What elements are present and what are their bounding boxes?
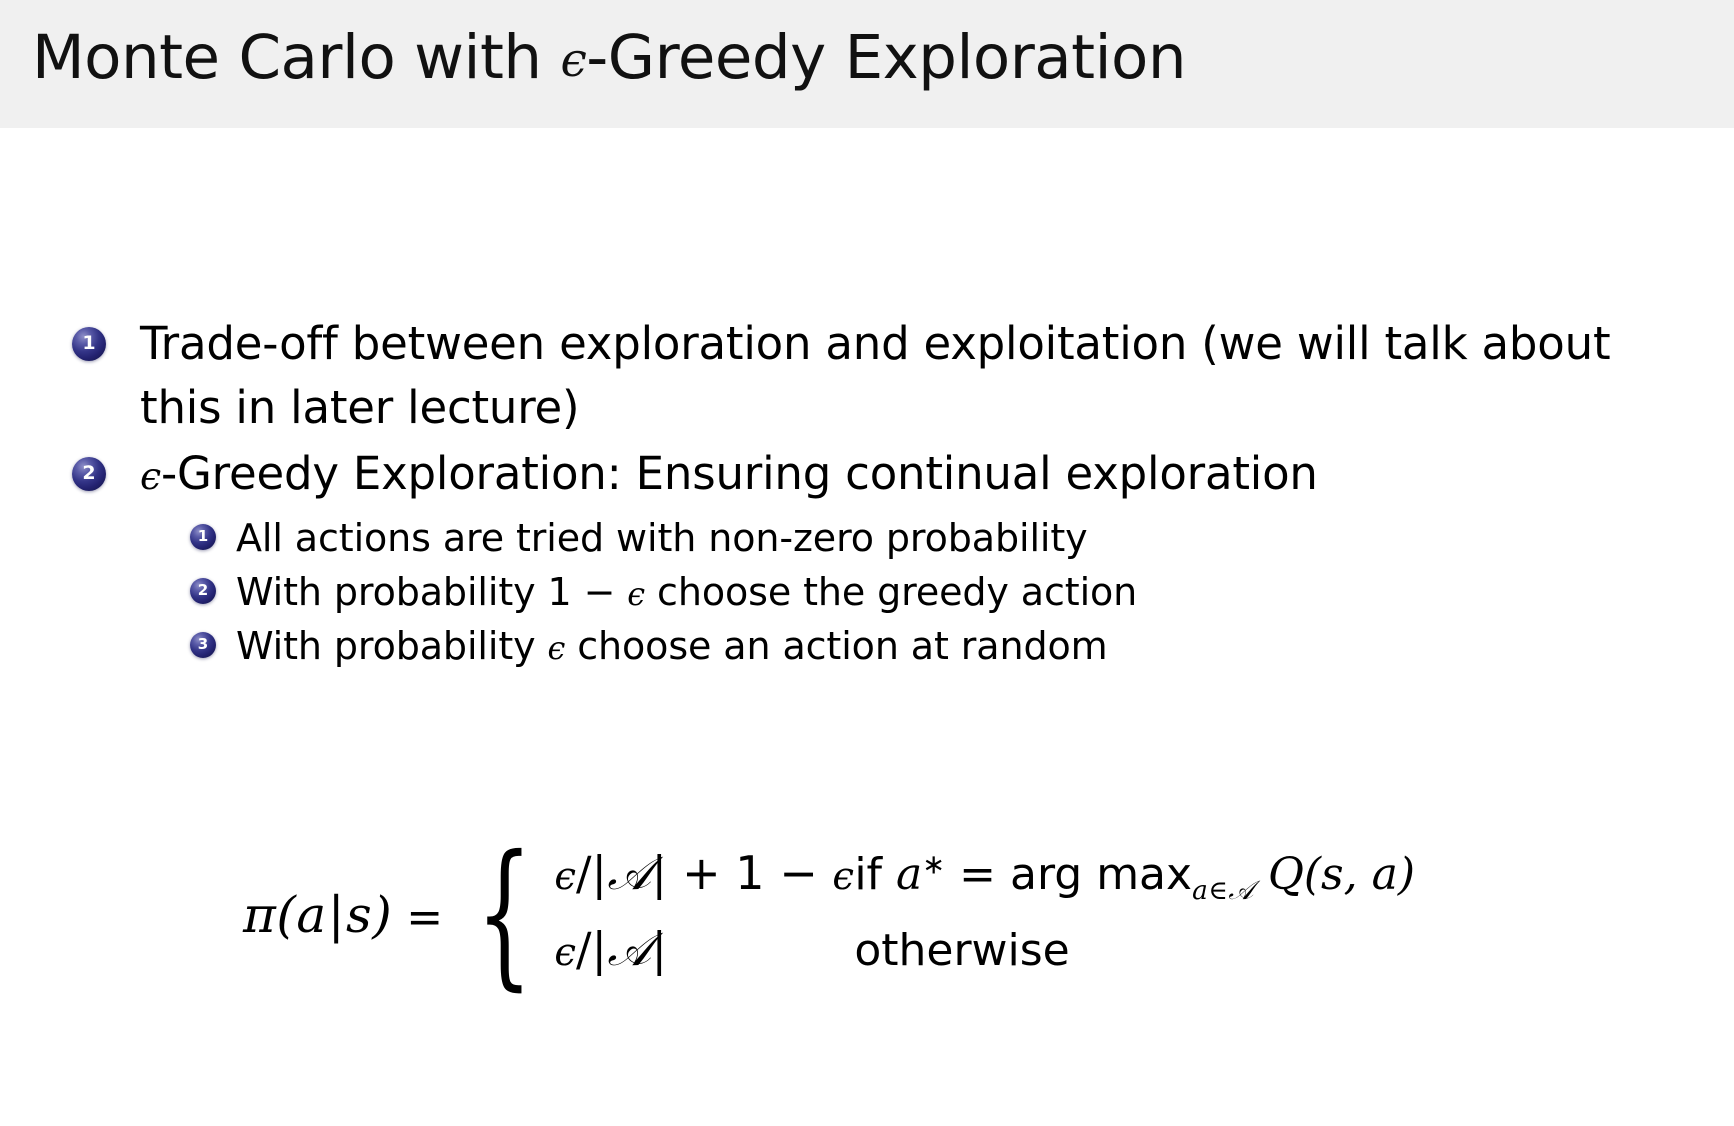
sub-list-item-label: All actions are tried with non-zero prob… (236, 516, 1088, 560)
epsilon-symbol: ϵ (554, 854, 576, 899)
title-epsilon-symbol: ϵ (560, 33, 586, 88)
q-function-args: (s, a) (1304, 849, 1415, 900)
sub-list-item-suffix: choose the greedy action (645, 570, 1137, 614)
sub-bullet-sphere-2: 2 (190, 578, 216, 604)
paren-close: ) (372, 886, 392, 944)
star-superscript: ∗ (922, 849, 945, 880)
curly-brace-icon: { (476, 858, 532, 972)
if-keyword: if (854, 849, 896, 900)
list-item-line-2: this in later lecture) (140, 381, 579, 434)
argmax-subscript: a∈𝒜 (1192, 875, 1254, 906)
formula-cases: ϵ/|𝒜| + 1 − ϵ if a∗ = arg maxa∈𝒜 Q(s, a)… (554, 846, 1415, 984)
epsilon-symbol: ϵ (627, 575, 645, 613)
epsilon-symbol: ϵ (554, 930, 576, 975)
sub-bullet-sphere-3: 3 (190, 632, 216, 658)
list-item-label: -Greedy Exploration: Ensuring continual … (161, 447, 1318, 500)
page-title: Monte Carlo with ϵ-Greedy Exploration (32, 20, 1186, 96)
list-item: 1 Trade-off between exploration and expl… (72, 312, 1702, 440)
sub-list-item-prefix: With probability (236, 570, 548, 614)
pi-symbol: π (243, 886, 276, 944)
sub-bullet-sphere-1: 1 (190, 524, 216, 550)
sub-list-item-prefix: With probability (236, 624, 548, 668)
sub-list-item: 1 All actions are tried with non-zero pr… (190, 512, 1690, 565)
variable-a-star: a (896, 849, 922, 900)
argmax-operator: arg max (1010, 849, 1192, 900)
bullet-marker-box: 1 (72, 312, 140, 361)
cardinality-A: |𝒜| (591, 846, 667, 900)
sub-list-item: 2 With probability 1 − ϵ choose the gree… (190, 566, 1690, 619)
sub-bullet-marker-box: 1 (190, 512, 236, 550)
plus-sign: + (682, 846, 721, 900)
list-item-line-1: Trade-off between exploration and exploi… (140, 317, 1610, 370)
formula-inner: π(a|s)= { ϵ/|𝒜| + 1 − ϵ if a∗ = arg maxa… (243, 846, 1415, 984)
slide-header-bar: Monte Carlo with ϵ-Greedy Exploration (0, 0, 1734, 128)
paren-open: ( (276, 886, 296, 944)
formula-lhs: π(a|s)= (243, 886, 454, 944)
cardinality-A: |𝒜| (591, 922, 667, 976)
bullet-sphere-2: 2 (72, 457, 106, 491)
conditional-bar: | (327, 886, 346, 944)
number-one: 1 (735, 846, 764, 900)
case-value: ϵ/|𝒜| + 1 − ϵ (554, 846, 854, 902)
slide-body: 1 Trade-off between exploration and expl… (0, 128, 1734, 1126)
policy-formula: π(a|s)= { ϵ/|𝒜| + 1 − ϵ if a∗ = arg maxa… (0, 846, 1734, 984)
case-condition: otherwise (854, 925, 1069, 976)
list-item-text: ϵ-Greedy Exploration: Ensuring continual… (140, 442, 1318, 506)
epsilon-symbol: ϵ (548, 629, 566, 667)
list-item-text: Trade-off between exploration and exploi… (140, 312, 1610, 440)
sub-list-item: 3 With probability ϵ choose an action at… (190, 620, 1690, 673)
slash-symbol: / (576, 846, 592, 900)
formula-case-row: ϵ/|𝒜| + 1 − ϵ if a∗ = arg maxa∈𝒜 Q(s, a) (554, 846, 1415, 908)
sub-bullet-marker-box: 3 (190, 620, 236, 658)
sub-list-item-suffix: choose an action at random (565, 624, 1107, 668)
otherwise-keyword: otherwise (854, 925, 1069, 976)
q-function: Q (1268, 849, 1304, 900)
title-prefix: Monte Carlo with (32, 22, 560, 93)
math-one: 1 (548, 570, 572, 614)
bullet-sphere-1: 1 (72, 327, 106, 361)
list-item: 2 ϵ-Greedy Exploration: Ensuring continu… (72, 442, 1702, 506)
epsilon-symbol: ϵ (832, 854, 854, 899)
equals-sign: = (959, 849, 996, 900)
variable-a: a (296, 886, 326, 944)
sub-list-item-text: With probability 1 − ϵ choose the greedy… (236, 566, 1137, 619)
equals-sign: = (392, 892, 453, 943)
minus-sign: − (779, 846, 818, 900)
case-condition: if a∗ = arg maxa∈𝒜 Q(s, a) (854, 849, 1415, 907)
sub-list-item-text: With probability ϵ choose an action at r… (236, 620, 1108, 673)
variable-s: s (346, 886, 372, 944)
case-value: ϵ/|𝒜| (554, 922, 854, 978)
formula-case-row: ϵ/|𝒜| otherwise (554, 922, 1415, 984)
title-suffix: -Greedy Exploration (586, 22, 1186, 93)
bullet-marker-box: 2 (72, 442, 140, 491)
slash-symbol: / (576, 922, 592, 976)
epsilon-symbol: ϵ (140, 454, 161, 498)
sub-list-item-text: All actions are tried with non-zero prob… (236, 512, 1088, 565)
math-minus-sign: − (584, 570, 616, 614)
sub-bullet-marker-box: 2 (190, 566, 236, 604)
